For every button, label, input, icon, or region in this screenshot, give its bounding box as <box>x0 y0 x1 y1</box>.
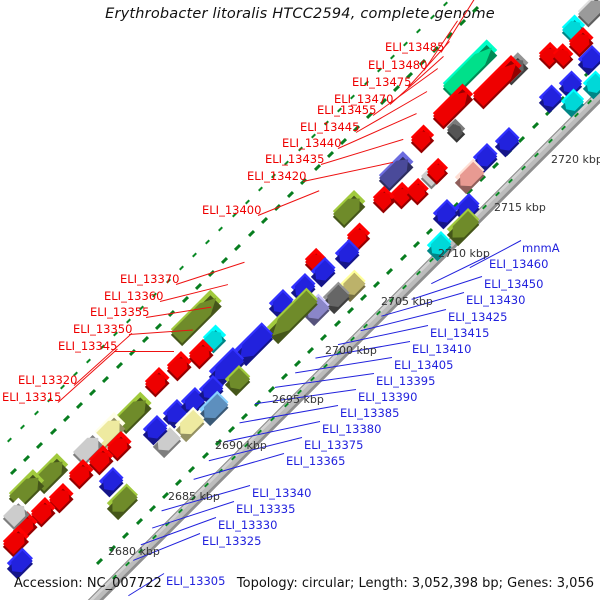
gene-label[interactable]: ELI_13435 <box>265 153 324 165</box>
gene-label[interactable]: ELI_13370 <box>120 273 179 285</box>
gene-label[interactable]: ELI_13355 <box>90 306 149 318</box>
gene-label[interactable]: ELI_13315 <box>2 391 61 403</box>
gene-label[interactable]: ELI_13330 <box>218 519 277 531</box>
gene-label[interactable]: ELI_13350 <box>73 323 132 335</box>
gene-label[interactable]: ELI_13390 <box>358 391 417 403</box>
gene-label[interactable]: ELI_13375 <box>304 439 363 451</box>
gene-label[interactable]: ELI_13415 <box>430 327 489 339</box>
leader-line <box>114 351 174 352</box>
gene-label[interactable]: ELI_13395 <box>376 375 435 387</box>
ruler-tick-label: 2685 kbp <box>168 491 220 503</box>
gene-label[interactable]: ELI_13430 <box>466 294 525 306</box>
ruler-tick-label: 2695 kbp <box>272 394 324 406</box>
gene-label[interactable]: ELI_13385 <box>340 407 399 419</box>
gene-label[interactable]: ELI_13420 <box>247 170 306 182</box>
accession-text: Accession: NC_007722 <box>14 576 162 591</box>
gene-label[interactable]: ELI_13380 <box>322 423 381 435</box>
gene-label[interactable]: ELI_13475 <box>352 76 411 88</box>
ruler-tick-label: 2700 kbp <box>325 345 377 357</box>
gene-label[interactable]: ELI_13360 <box>104 290 163 302</box>
gene-label[interactable]: ELI_13480 <box>368 59 427 71</box>
gene-label[interactable]: ELI_13410 <box>412 343 471 355</box>
ruler-tick-label: 2705 kbp <box>381 296 433 308</box>
gene-label[interactable]: ELI_13455 <box>317 104 376 116</box>
gene-label[interactable]: ELI_13325 <box>202 535 261 547</box>
gene-label[interactable]: mnmA <box>522 242 560 254</box>
gene-label[interactable]: ELI_13340 <box>252 487 311 499</box>
gene-label[interactable]: ELI_13365 <box>286 455 345 467</box>
gene-label[interactable]: ELI_13485 <box>385 41 444 53</box>
ruler-tick-label: 2715 kbp <box>494 202 546 214</box>
gene-label[interactable]: ELI_13440 <box>282 137 341 149</box>
topology-text: Topology: circular; Length: 3,052,398 bp… <box>237 576 594 591</box>
gene-label[interactable]: ELI_13450 <box>484 278 543 290</box>
status-bar: Accession: NC_007722 Topology: circular;… <box>0 576 600 594</box>
gene-label[interactable]: ELI_13400 <box>202 204 261 216</box>
gene-label[interactable]: ELI_13345 <box>58 340 117 352</box>
ruler-tick-label: 2680 kbp <box>108 546 160 558</box>
genome-viewer: Erythrobacter litoralis HTCC2594, comple… <box>0 0 600 600</box>
gene-label[interactable]: ELI_13445 <box>300 121 359 133</box>
ruler-tick-label: 2720 kbp <box>551 154 600 166</box>
gene-label[interactable]: ELI_13405 <box>394 359 453 371</box>
gene-label[interactable]: ELI_13425 <box>448 311 507 323</box>
gene-label[interactable]: ELI_13335 <box>236 503 295 515</box>
ruler-tick-label: 2710 kbp <box>438 248 490 260</box>
ruler-tick-label: 2690 kbp <box>215 440 267 452</box>
gene-label[interactable]: ELI_13320 <box>18 374 77 386</box>
gene-label[interactable]: ELI_13460 <box>489 258 548 270</box>
